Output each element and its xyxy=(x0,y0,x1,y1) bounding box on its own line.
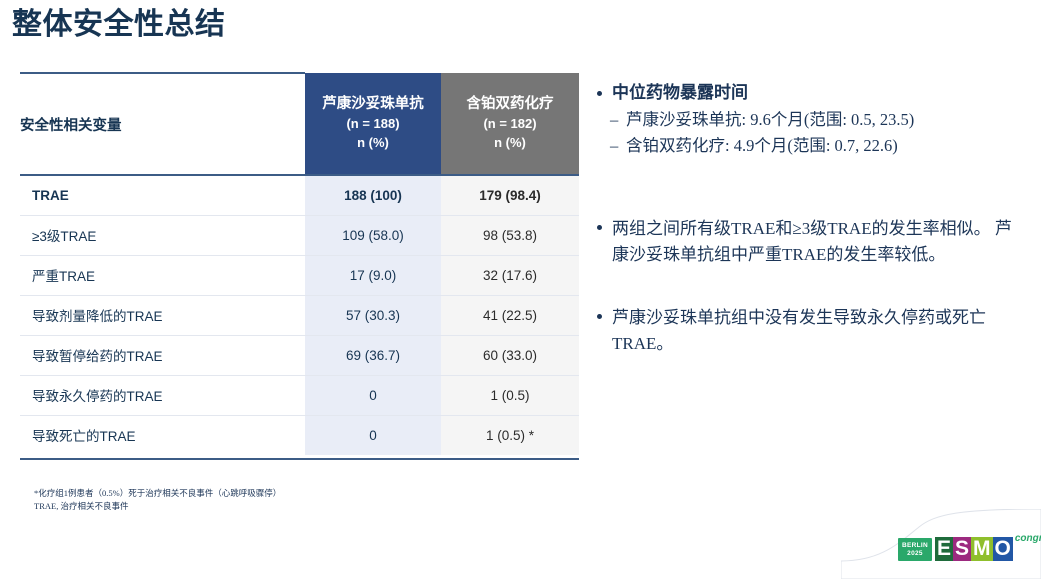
table-head: 安全性相关变量 芦康沙妥珠单抗 (n = 188) n (%) 含铂双药化疗 (… xyxy=(20,73,579,175)
row-value-arm-1: 69 (36.7) xyxy=(305,335,441,375)
row-label: 导致暂停给药的TRAE xyxy=(20,335,305,375)
row-value-arm-1: 188 (100) xyxy=(305,175,441,215)
note-bullet-exposure-heading: 中位药物暴露时间 xyxy=(594,82,1034,105)
note-subitem-arm-2-exposure: 含铂双药化疗: 4.9个月(范围: 0.7, 22.6) xyxy=(594,133,1034,159)
table-bottom-rule xyxy=(20,458,579,460)
arm-2-n: (n = 182) xyxy=(441,115,579,134)
row-value-arm-2: 1 (0.5) xyxy=(441,375,579,415)
row-value-arm-1: 17 (9.0) xyxy=(305,255,441,295)
table-body: TRAE 188 (100) 179 (98.4) ≥3级TRAE 109 (5… xyxy=(20,175,579,455)
row-value-arm-2: 1 (0.5) * xyxy=(441,415,579,455)
esmo-letter-o: O xyxy=(993,537,1013,561)
table-row: 导致死亡的TRAE 0 1 (0.5) * xyxy=(20,415,579,455)
row-value-arm-1: 57 (30.3) xyxy=(305,295,441,335)
esmo-letter-e: E xyxy=(935,537,953,561)
table-row: TRAE 188 (100) 179 (98.4) xyxy=(20,175,579,215)
notes-spacer xyxy=(594,271,1034,305)
table-row: 严重TRAE 17 (9.0) 32 (17.6) xyxy=(20,255,579,295)
notes-panel: 中位药物暴露时间 芦康沙妥珠单抗: 9.6个月(范围: 0.5, 23.5) 含… xyxy=(594,82,1034,360)
row-value-arm-2: 60 (33.0) xyxy=(441,335,579,375)
row-label: 导致死亡的TRAE xyxy=(20,415,305,455)
note-bullet-trae-comparison: 两组之间所有级TRAE和≥3级TRAE的发生率相似。 芦康沙妥珠单抗组中严重TR… xyxy=(594,216,1024,267)
row-value-arm-2: 32 (17.6) xyxy=(441,255,579,295)
row-label: 严重TRAE xyxy=(20,255,305,295)
badge-city: BERLIN xyxy=(902,542,928,549)
row-value-arm-2: 41 (22.5) xyxy=(441,295,579,335)
footnote-abbreviations: TRAE, 治疗相关不良事件 xyxy=(34,500,281,513)
arm-2-name: 含铂双药化疗 xyxy=(441,94,579,115)
arm-2-unit: n (%) xyxy=(441,134,579,153)
column-header-arm-1: 芦康沙妥珠单抗 (n = 188) n (%) xyxy=(305,73,441,175)
row-label: 导致剂量降低的TRAE xyxy=(20,295,305,335)
row-label: 导致永久停药的TRAE xyxy=(20,375,305,415)
arm-1-unit: n (%) xyxy=(305,134,441,153)
notes-spacer xyxy=(594,158,1034,216)
safety-table: 安全性相关变量 芦康沙妥珠单抗 (n = 188) n (%) 含铂双药化疗 (… xyxy=(20,72,579,455)
footnotes: *化疗组1例患者（0.5%）死于治疗相关不良事件（心跳呼吸骤停） TRAE, 治… xyxy=(34,487,281,513)
esmo-congress-logo: BERLIN 2025 E S M O congress xyxy=(898,533,1041,561)
column-header-variable: 安全性相关变量 xyxy=(20,73,305,175)
berlin-2025-badge: BERLIN 2025 xyxy=(898,538,932,561)
esmo-wordmark: E S M O xyxy=(935,537,1013,561)
table-row: ≥3级TRAE 109 (58.0) 98 (53.8) xyxy=(20,215,579,255)
arm-1-n: (n = 188) xyxy=(305,115,441,134)
table-row: 导致暂停给药的TRAE 69 (36.7) 60 (33.0) xyxy=(20,335,579,375)
note-bullet-no-discontinuation: 芦康沙妥珠单抗组中没有发生导致永久停药或死亡TRAE。 xyxy=(594,305,1024,356)
footnote-asterisk: *化疗组1例患者（0.5%）死于治疗相关不良事件（心跳呼吸骤停） xyxy=(34,487,281,500)
row-label: ≥3级TRAE xyxy=(20,215,305,255)
table-row: 导致剂量降低的TRAE 57 (30.3) 41 (22.5) xyxy=(20,295,579,335)
row-value-arm-2: 98 (53.8) xyxy=(441,215,579,255)
safety-table-container: 安全性相关变量 芦康沙妥珠单抗 (n = 188) n (%) 含铂双药化疗 (… xyxy=(20,72,579,455)
esmo-letter-s: S xyxy=(953,537,971,561)
table-header-row: 安全性相关变量 芦康沙妥珠单抗 (n = 188) n (%) 含铂双药化疗 (… xyxy=(20,73,579,175)
note-subitem-arm-1-exposure: 芦康沙妥珠单抗: 9.6个月(范围: 0.5, 23.5) xyxy=(594,107,1034,133)
row-value-arm-2: 179 (98.4) xyxy=(441,175,579,215)
esmo-letter-m: M xyxy=(971,537,993,561)
badge-year: 2025 xyxy=(907,550,923,557)
table-row: 导致永久停药的TRAE 0 1 (0.5) xyxy=(20,375,579,415)
page-title: 整体安全性总结 xyxy=(12,6,226,44)
row-label: TRAE xyxy=(20,175,305,215)
arm-1-name: 芦康沙妥珠单抗 xyxy=(305,94,441,115)
congress-label: congress xyxy=(1015,533,1041,544)
row-value-arm-1: 109 (58.0) xyxy=(305,215,441,255)
row-value-arm-1: 0 xyxy=(305,375,441,415)
column-header-arm-2: 含铂双药化疗 (n = 182) n (%) xyxy=(441,73,579,175)
row-value-arm-1: 0 xyxy=(305,415,441,455)
